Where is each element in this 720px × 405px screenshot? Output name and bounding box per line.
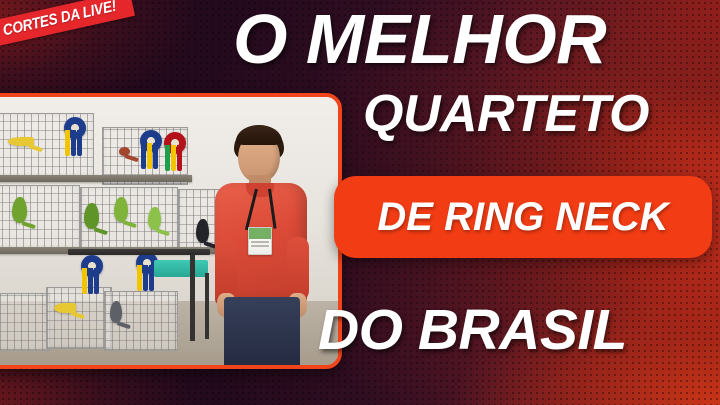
table-leg [205,273,209,339]
ring-neck-pill: DE RING NECK [334,176,712,258]
table-leg [190,255,195,341]
bird-on-table [196,219,209,243]
bird-ring-neck [8,137,34,146]
bird-ring-neck [148,207,161,230]
cage-bottom-left [0,293,50,351]
rosette-award [64,117,86,139]
ring-neck-pill-label: DE RING NECK [377,195,668,240]
rosette-award [81,255,103,277]
photo-inset [0,93,342,369]
person-id-badge [248,227,272,255]
person-jeans [224,297,300,365]
bird-ring-neck [114,197,128,222]
bird-ring-neck [84,203,99,229]
headline-line-2: QUARTETO [363,88,649,140]
headline-line-1: O MELHOR [233,4,606,74]
bird-ring-neck [110,301,122,323]
rosette-award [140,130,162,152]
person-arm-right [287,237,309,301]
shelf-top [0,175,192,182]
bird-ring-neck [54,303,76,313]
table-surface [68,249,210,255]
bird-ring-neck [119,147,130,156]
person-arm-left [215,237,237,301]
table-pad [154,260,208,277]
rosette-award [164,132,186,154]
bird-ring-neck [12,197,27,223]
photo-content [0,97,338,365]
headline-line-4: DO BRASIL [318,302,627,359]
youtube-thumbnail: CORTES DA LIVE! O MELHOR QUARTETO DE RIN… [0,0,720,405]
